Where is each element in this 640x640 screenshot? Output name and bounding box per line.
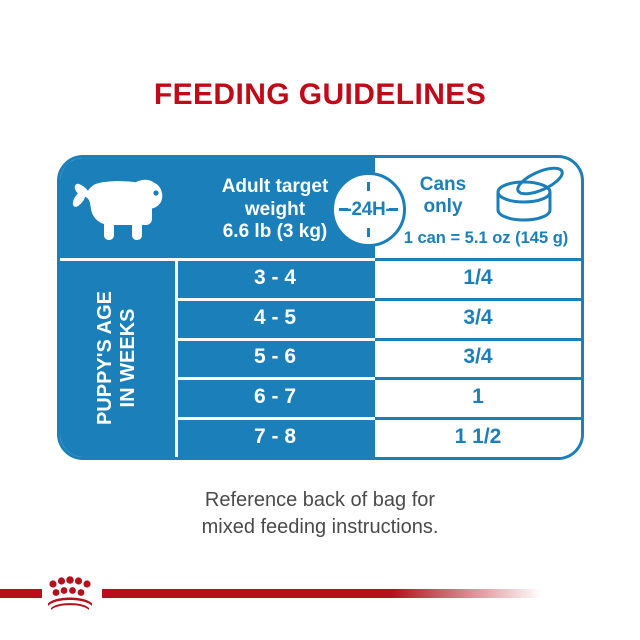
brand-footer-bar bbox=[0, 572, 640, 618]
table-rows: 3 - 4 1/4 4 - 5 3/4 5 - 6 3/4 6 - 7 1 7 … bbox=[175, 258, 581, 457]
reference-note-line2: mixed feeding instructions. bbox=[0, 514, 640, 541]
adult-target-weight-label-line1: Adult target bbox=[222, 176, 329, 198]
24h-duration-badge: -24H- bbox=[331, 172, 406, 247]
cans-only-label: Cans only bbox=[404, 174, 482, 219]
header-separator-right bbox=[375, 258, 581, 261]
adult-target-weight-value: 6.6 lb (3 kg) bbox=[223, 221, 328, 243]
adult-target-weight-label-line2: weight bbox=[245, 199, 305, 221]
puppys-age-in-weeks-label: PUPPY'S AGE IN WEEKS bbox=[60, 258, 175, 457]
cans-only-block: Cans only 1 can = 5.1 oz (145 g) bbox=[390, 164, 580, 256]
can-amount-cell: 3/4 bbox=[375, 338, 581, 378]
reference-note-line1: Reference back of bag for bbox=[0, 487, 640, 514]
royal-canin-crown-logo bbox=[40, 574, 100, 614]
reference-note: Reference back of bag for mixed feeding … bbox=[0, 487, 640, 541]
feeding-guidelines-page: FEEDING GUIDELINES Adult targ bbox=[0, 0, 640, 640]
can-amount-cell: 1 bbox=[375, 377, 581, 417]
age-range-cell: 5 - 6 bbox=[175, 338, 375, 378]
can-amount-cell: 3/4 bbox=[375, 298, 581, 338]
table-row: 3 - 4 1/4 bbox=[175, 258, 581, 298]
open-can-icon bbox=[482, 166, 574, 228]
header-separator-left bbox=[60, 258, 375, 261]
feeding-guidelines-table: Adult target weight 6.6 lb (3 kg) Cans o… bbox=[57, 155, 584, 460]
table-row: 4 - 5 3/4 bbox=[175, 298, 581, 338]
age-range-cell: 4 - 5 bbox=[175, 298, 375, 338]
puppy-silhouette-icon bbox=[66, 166, 174, 252]
age-range-cell: 3 - 4 bbox=[175, 258, 375, 298]
age-range-cell: 7 - 8 bbox=[175, 417, 375, 457]
brand-bar-right-segment bbox=[102, 589, 542, 598]
cans-only-line2: only bbox=[404, 196, 482, 218]
brand-bar-left-segment bbox=[0, 589, 42, 598]
table-frame: Adult target weight 6.6 lb (3 kg) Cans o… bbox=[57, 155, 584, 460]
24h-badge-label: -24H- bbox=[334, 175, 403, 244]
age-column-divider bbox=[175, 258, 178, 457]
table-row: 5 - 6 3/4 bbox=[175, 338, 581, 378]
age-range-cell: 6 - 7 bbox=[175, 377, 375, 417]
age-label-line1: PUPPY'S AGE bbox=[95, 290, 117, 424]
age-label-line2: IN WEEKS bbox=[118, 308, 140, 407]
page-title: FEEDING GUIDELINES bbox=[0, 78, 640, 112]
table-row: 6 - 7 1 bbox=[175, 377, 581, 417]
table-row: 7 - 8 1 1/2 bbox=[175, 417, 581, 457]
cans-only-line1: Cans bbox=[404, 174, 482, 196]
can-amount-cell: 1/4 bbox=[375, 258, 581, 298]
can-equivalence-label: 1 can = 5.1 oz (145 g) bbox=[386, 229, 584, 248]
can-amount-cell: 1 1/2 bbox=[375, 417, 581, 457]
